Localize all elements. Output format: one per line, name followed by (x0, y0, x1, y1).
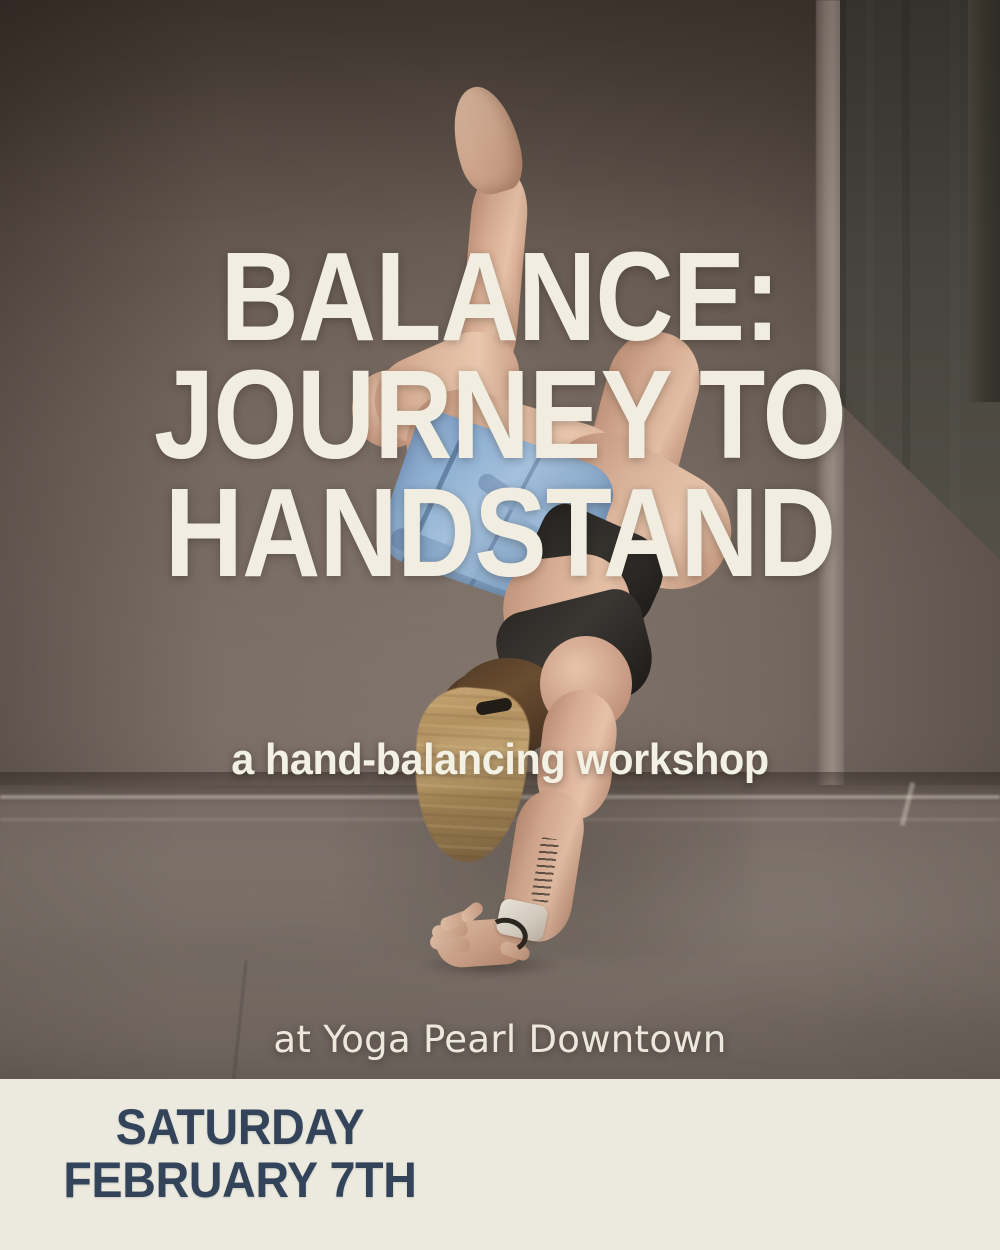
footer-bar: SATURDAY FEBRUARY 7TH 2:15pm-4:15pm (0, 1079, 1000, 1250)
poster-subtitle: a hand-balancing workshop (30, 735, 970, 785)
poster-canvas: BALANCE: JOURNEY TO HANDSTAND a hand-bal… (0, 0, 1000, 1250)
event-date: SATURDAY FEBRUARY 7TH (54, 1101, 426, 1207)
poster-title: BALANCE: JOURNEY TO HANDSTAND (70, 238, 930, 591)
text-overlay: BALANCE: JOURNEY TO HANDSTAND a hand-bal… (0, 0, 1000, 1080)
venue-line: at Yoga Pearl Downtown (0, 1018, 1000, 1061)
